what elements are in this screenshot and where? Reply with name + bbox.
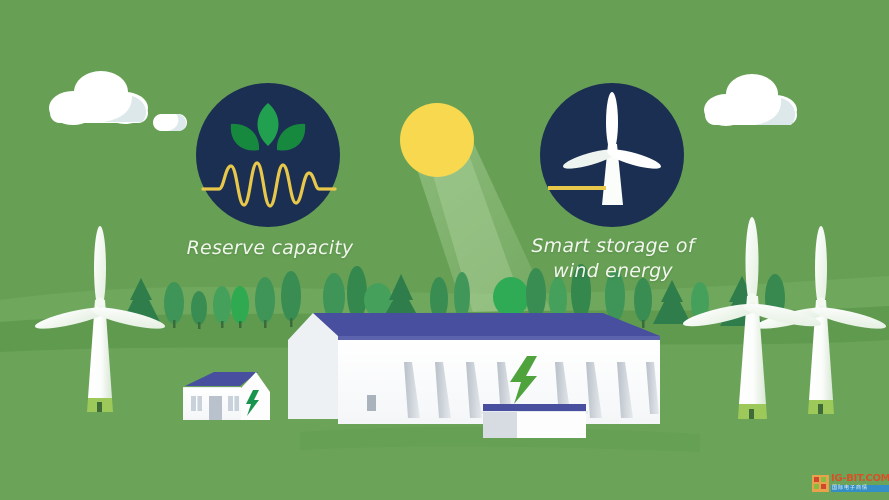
tree-trunk bbox=[173, 320, 176, 328]
house-door bbox=[209, 396, 222, 420]
watermark-text: IG-BIT.COM 国际电子商情 bbox=[831, 474, 889, 492]
turbine-icon-hub bbox=[608, 144, 616, 152]
tree-trunk bbox=[239, 321, 242, 328]
energy-storage-warehouse bbox=[288, 313, 660, 424]
landscape-layer bbox=[0, 0, 889, 500]
tree-trunk bbox=[198, 322, 201, 329]
platform-body bbox=[517, 412, 586, 438]
house-window-mullion bbox=[233, 396, 234, 411]
tree-oval bbox=[281, 271, 301, 321]
warehouse-side-door bbox=[367, 395, 376, 411]
tree-trunk bbox=[264, 320, 267, 328]
site-watermark: IG-BIT.COM 国际电子商情 bbox=[812, 470, 886, 496]
tree-trunk bbox=[642, 320, 645, 328]
tree-trunk bbox=[290, 318, 293, 327]
cloud-small-left bbox=[153, 114, 187, 131]
turbine-hub-cap bbox=[96, 298, 105, 307]
house-window-mullion bbox=[196, 396, 197, 411]
tree-oval bbox=[347, 266, 367, 320]
reserve-capacity-label: Reserve capacity bbox=[175, 236, 365, 261]
tree-oval bbox=[634, 278, 652, 322]
sun bbox=[400, 103, 474, 177]
turbine-door bbox=[749, 409, 754, 419]
smart-storage-label: Smart storage of wind energy bbox=[515, 234, 711, 284]
tree-trunk bbox=[221, 321, 224, 328]
tree-oval bbox=[454, 272, 470, 320]
turbine-blade bbox=[815, 226, 827, 310]
turbine-icon-blade bbox=[606, 92, 618, 152]
reserve-capacity-icon-circle[interactable] bbox=[196, 83, 340, 227]
platform-roof bbox=[483, 404, 586, 411]
turbine-door bbox=[97, 402, 102, 412]
tree-oval bbox=[164, 282, 184, 324]
turbine-blade bbox=[94, 226, 106, 310]
logo-mark-icon bbox=[812, 475, 829, 492]
warehouse-roof bbox=[313, 313, 660, 336]
watermark-title: IG-BIT.COM bbox=[831, 474, 889, 484]
tree-oval bbox=[213, 286, 231, 324]
tree-oval-highlight bbox=[231, 286, 249, 324]
turbine-hub-cap bbox=[817, 298, 826, 307]
platform-body-shade bbox=[483, 412, 517, 438]
illustration-scene: Reserve capacity Smart storage of wind e… bbox=[0, 0, 889, 500]
smart-storage-icon-circle[interactable] bbox=[540, 83, 684, 227]
tree-oval bbox=[191, 291, 207, 325]
wind-line-icon bbox=[548, 186, 606, 190]
watermark-subtitle: 国际电子商情 bbox=[831, 485, 889, 492]
turbine-hub-cap bbox=[747, 293, 757, 303]
turbine-door bbox=[818, 404, 823, 414]
tree-oval bbox=[255, 277, 275, 323]
loading-platform bbox=[481, 404, 588, 438]
